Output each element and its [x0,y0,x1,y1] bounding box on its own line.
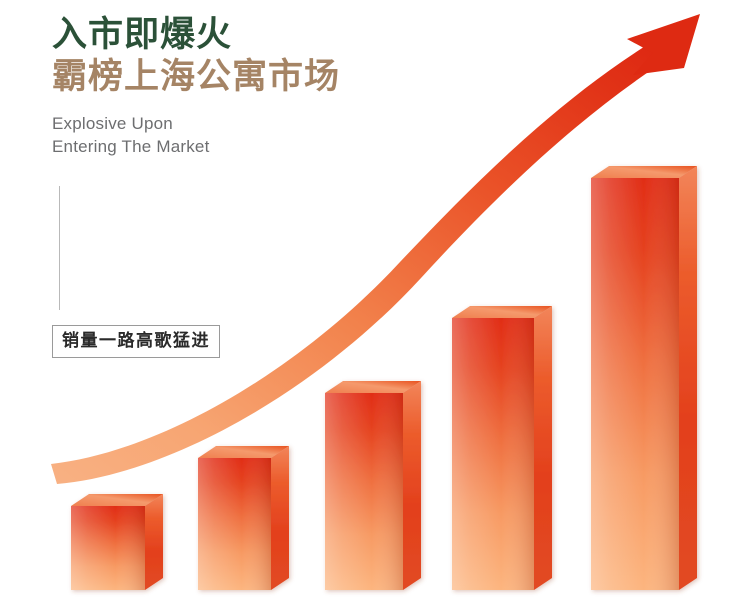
bar-column-4 [452,306,552,590]
bar-column-5 [591,166,697,590]
bar-column-3 [325,381,421,590]
poster-canvas: 入市即爆火 霸榜上海公寓市场 Explosive Upon Entering T… [0,0,740,598]
bar-3-front-sheen [325,393,403,590]
bar-column-1 [71,494,163,590]
subtitle-line-2: Entering The Market [52,135,472,158]
bar-2-side-face [271,446,289,590]
headline-block: 入市即爆火 霸榜上海公寓市场 Explosive Upon Entering T… [52,14,472,158]
bar-2-front-sheen [198,458,271,590]
subtitle-block: Explosive Upon Entering The Market [52,112,472,158]
bar-column-2 [198,446,289,590]
bar-4-front-sheen [452,318,534,590]
bar-5-front-sheen [591,178,679,590]
bar-5-side-face [679,166,697,590]
callout-text: 销量一路高歌猛进 [62,331,210,351]
headline-secondary: 霸榜上海公寓市场 [52,56,472,98]
vertical-rule-divider [59,186,60,310]
bar-4-side-face [534,306,552,590]
bar-3-side-face [403,381,421,590]
bar-1-front-sheen [71,506,145,590]
subtitle-line-1: Explosive Upon [52,112,472,135]
callout-box: 销量一路高歌猛进 [52,325,220,358]
headline-primary: 入市即爆火 [52,14,472,56]
bar-1-side-face [145,494,163,590]
bar-5-top-face [591,166,697,178]
